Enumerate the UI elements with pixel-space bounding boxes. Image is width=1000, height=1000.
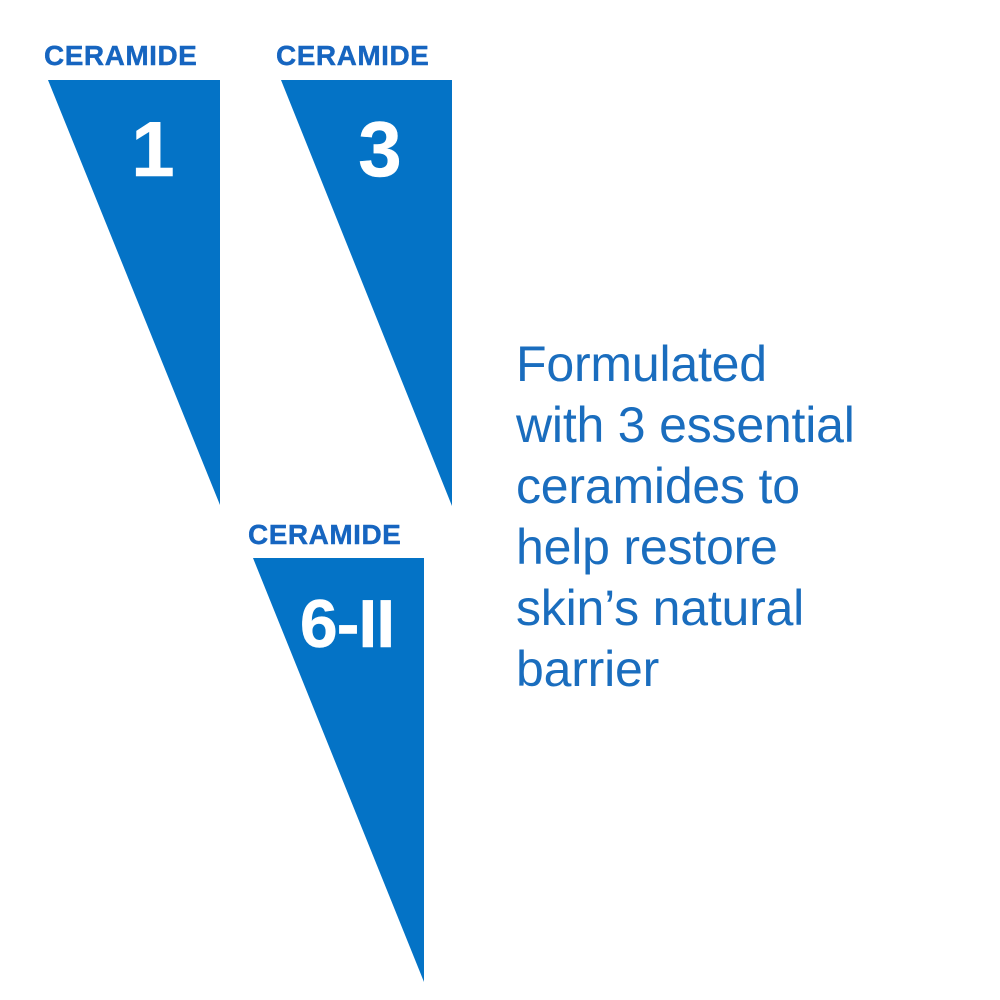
marketing-copy-block: Formulated with 3 essential ceramides to… xyxy=(516,334,968,700)
copy-line: ceramides to xyxy=(516,456,968,517)
ceramide-badge-6-ii: CERAMIDE 6-II xyxy=(0,0,500,1000)
ceramide-wedge-6-ii-icon xyxy=(0,0,500,1000)
ceramide-infographic: CERAMIDE 1 CERAMIDE 3 CERAMIDE 6-II Form… xyxy=(0,0,1000,1000)
ceramide-badge-6-ii-label: CERAMIDE xyxy=(248,521,401,549)
copy-line: with 3 essential xyxy=(516,395,968,456)
ceramide-badge-6-ii-number: 6-II xyxy=(282,590,412,658)
copy-line: Formulated xyxy=(516,334,968,395)
copy-line: skin’s natural xyxy=(516,578,968,639)
copy-line: help restore xyxy=(516,517,968,578)
copy-line: barrier xyxy=(516,639,968,700)
